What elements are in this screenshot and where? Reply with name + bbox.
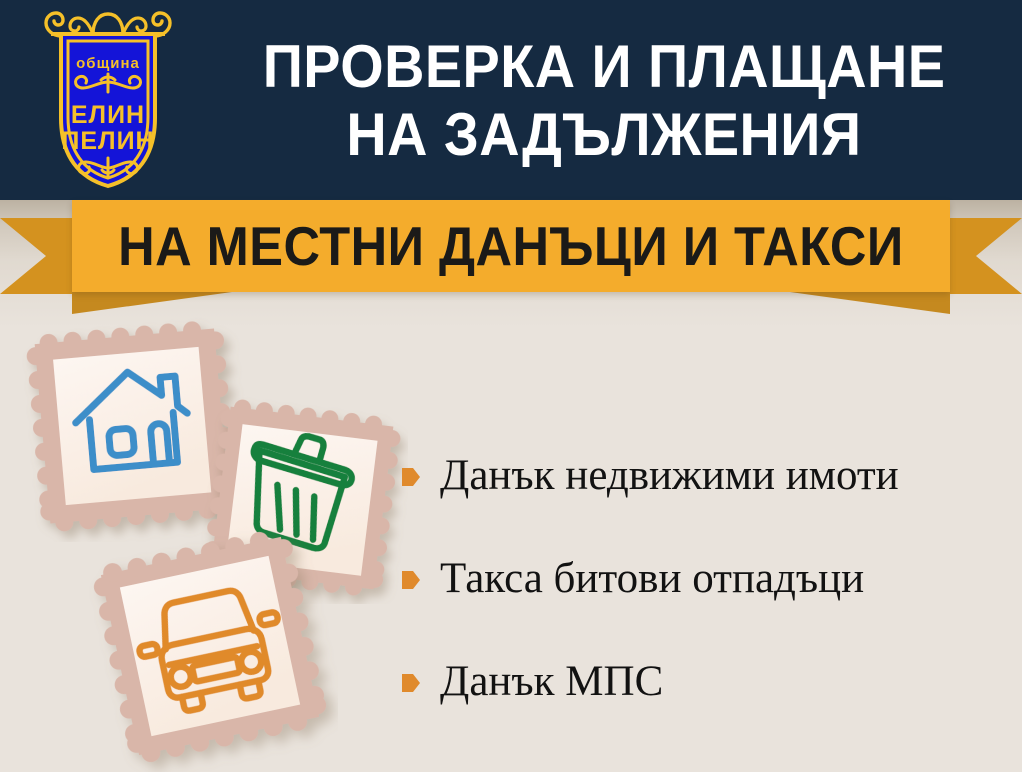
list-item[interactable]: Данък МПС	[402, 630, 1012, 733]
svg-text:ПЕЛИН: ПЕЛИН	[61, 127, 154, 155]
page-title: ПРОВЕРКА И ПЛАЩАНЕ НА ЗАДЪЛЖЕНИЯ	[196, 16, 1012, 186]
svg-text:община: община	[76, 55, 140, 72]
list-item-label: Такса битови отпадъци	[440, 555, 864, 603]
bullet-arrow-icon	[402, 466, 420, 488]
ribbon-band: НА МЕСТНИ ДАНЪЦИ И ТАКСИ	[72, 200, 950, 292]
header-bar: община ЕЛИН ПЕЛИН	[0, 0, 1022, 200]
list-item[interactable]: Такса битови отпадъци	[402, 527, 1012, 630]
ribbon-label: НА МЕСТНИ ДАНЪЦИ И ТАКСИ	[118, 217, 904, 275]
tax-type-list: Данък недвижими имоти Такса битови отпад…	[402, 424, 1012, 733]
title-line-1: ПРОВЕРКА И ПЛАЩАНЕ	[263, 33, 946, 101]
title-line-2: НА ЗАДЪЛЖЕНИЯ	[346, 101, 861, 169]
list-item[interactable]: Данък недвижими имоти	[402, 424, 1012, 527]
stamp-card-car	[82, 518, 338, 772]
list-item-label: Данък недвижими имоти	[440, 452, 899, 500]
list-item-label: Данък МПС	[440, 658, 663, 706]
subtitle-ribbon: НА МЕСТНИ ДАНЪЦИ И ТАКСИ	[0, 200, 1022, 308]
svg-text:ЕЛИН: ЕЛИН	[71, 101, 145, 129]
bullet-arrow-icon	[402, 672, 420, 694]
bullet-arrow-icon	[402, 569, 420, 591]
coat-of-arms-icon: община ЕЛИН ПЕЛИН	[33, 10, 183, 192]
poster-canvas: община ЕЛИН ПЕЛИН	[0, 0, 1022, 772]
